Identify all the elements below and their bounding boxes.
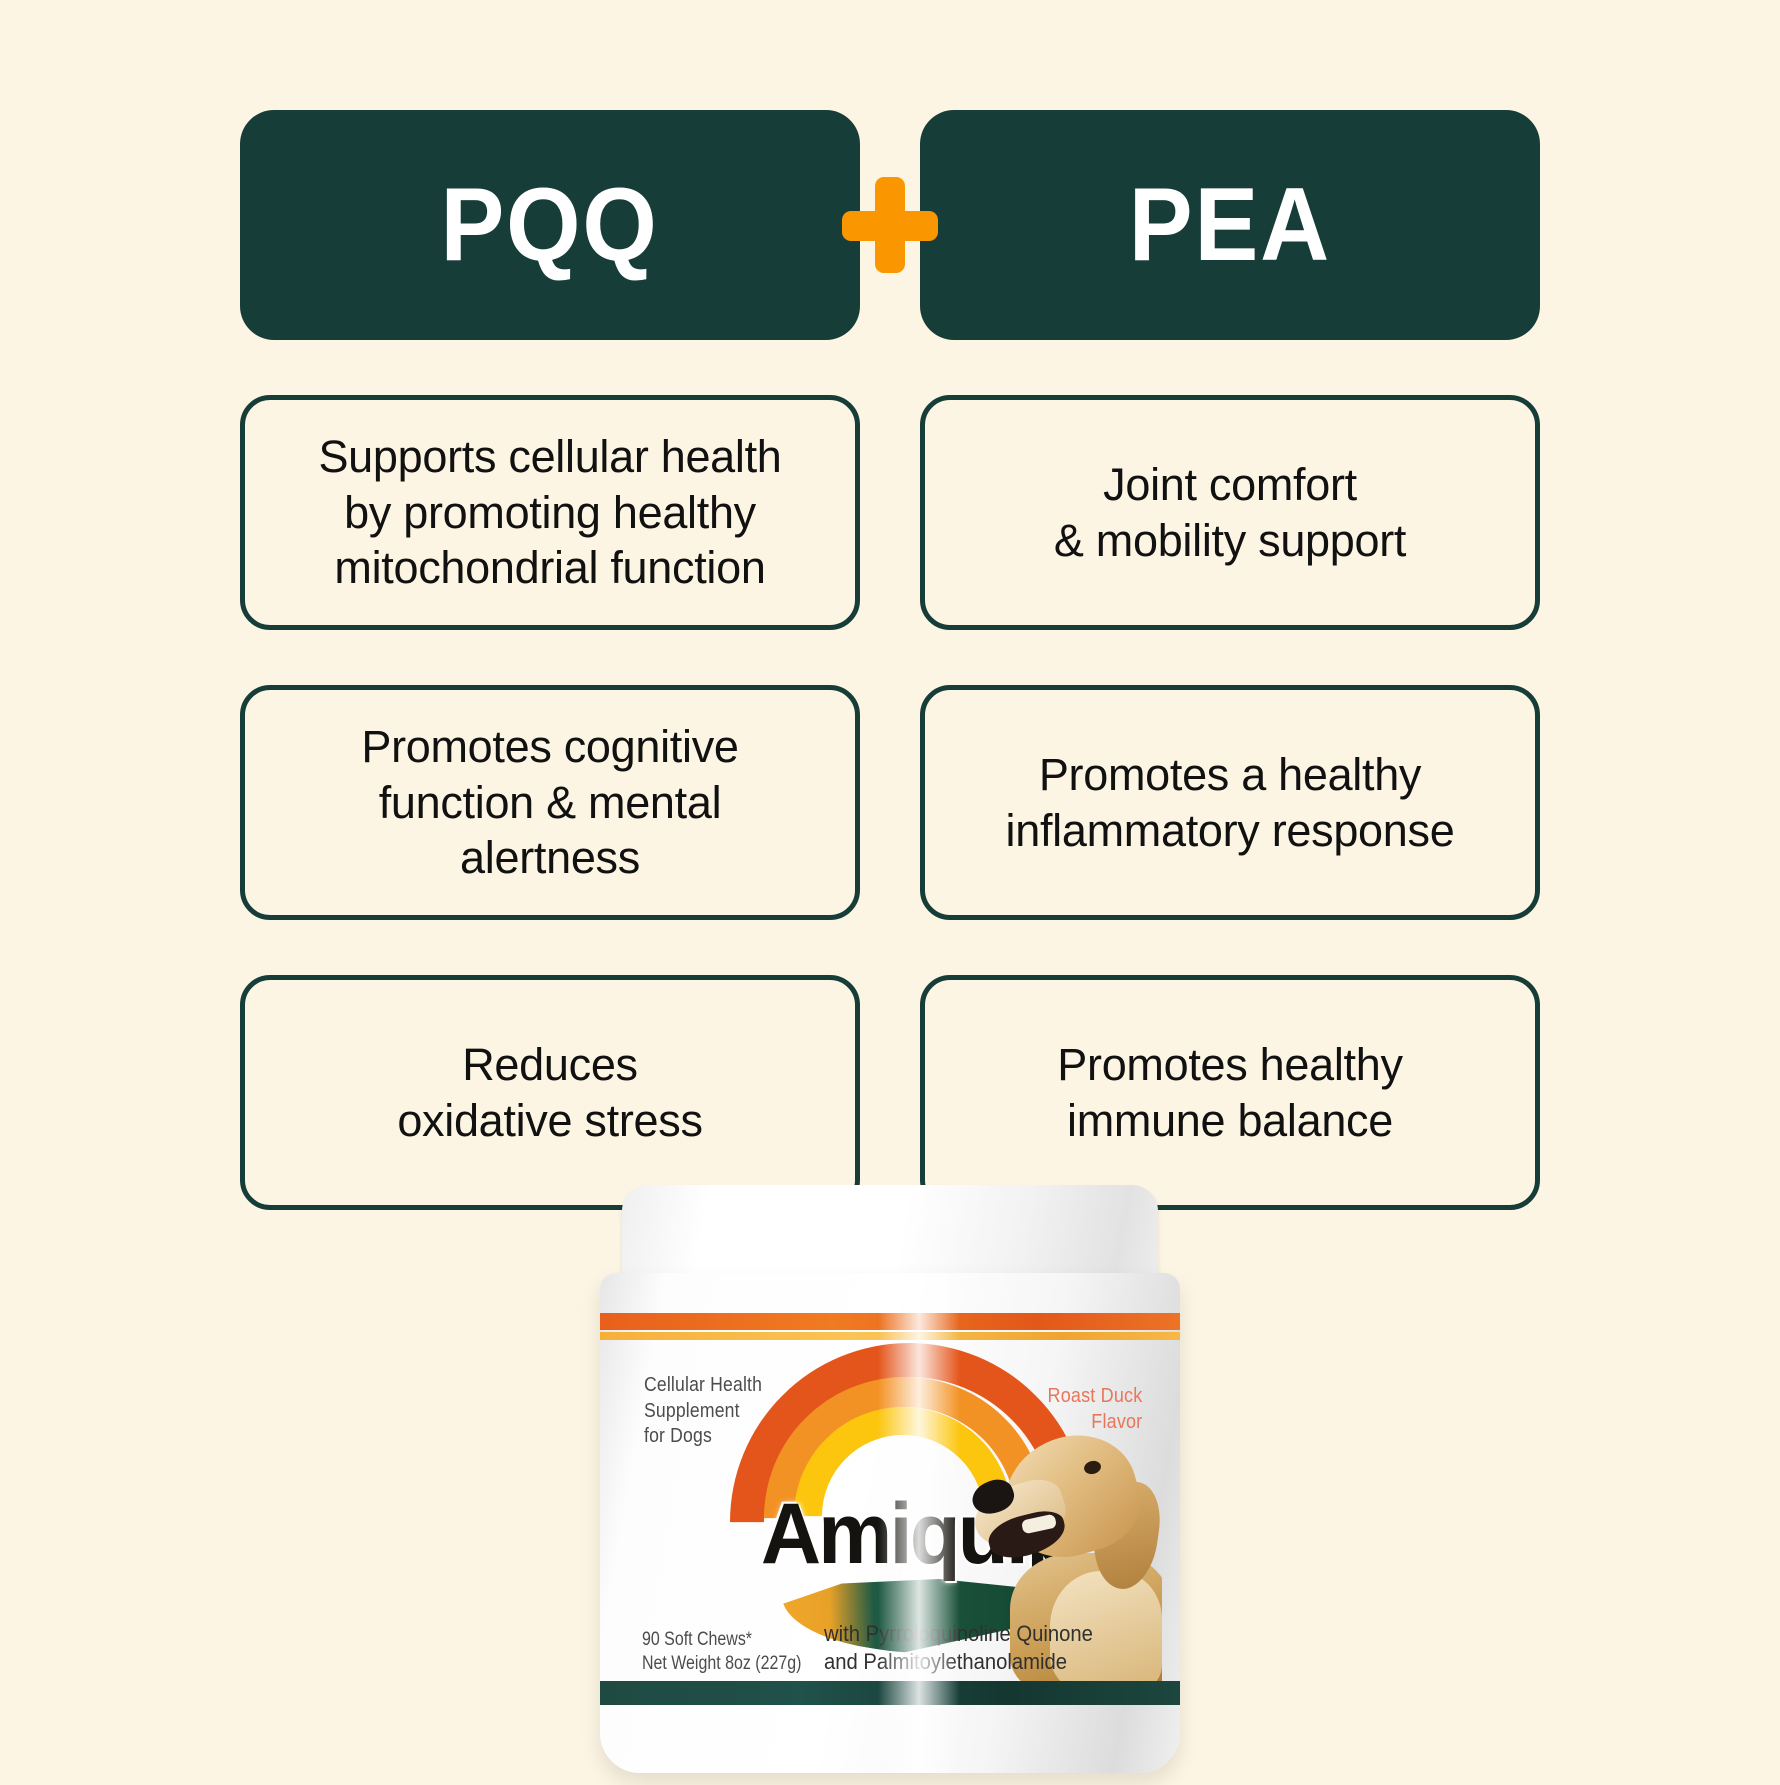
benefits-row-3: Reduces oxidative stress Promotes health… [240, 975, 1540, 1210]
product-jar: Cellular Health Supplement for Dogs Roas… [600, 1185, 1180, 1785]
product-count: 90 Soft Chews* Net Weight 8oz (227g) [642, 1628, 801, 1677]
jar-body: Cellular Health Supplement for Dogs Roas… [600, 1273, 1180, 1773]
benefit-text: Promotes healthy immune balance [1057, 1037, 1402, 1149]
label-stripe-green [600, 1681, 1180, 1705]
benefit-text: Joint comfort & mobility support [1054, 457, 1406, 569]
ingredient-header-row: PQQ PEA [240, 110, 1540, 340]
benefit-card-pqq-2: Promotes cognitive function & mental ale… [240, 685, 860, 920]
plus-icon-vertical-bar [875, 177, 905, 273]
label-stripe-yellow [600, 1332, 1180, 1340]
header-card-pqq: PQQ [240, 110, 860, 340]
benefit-text: Supports cellular health by promoting he… [318, 429, 781, 596]
infographic-canvas: PQQ PEA Supports cellular health by prom… [0, 0, 1780, 1780]
benefits-row-1: Supports cellular health by promoting he… [240, 395, 1540, 630]
label-stripe-orange [600, 1313, 1180, 1330]
jar-lid [622, 1185, 1158, 1285]
benefit-text: Reduces oxidative stress [397, 1037, 702, 1149]
benefit-text: Promotes a healthy inflammatory response [1006, 747, 1455, 859]
benefit-text: Promotes cognitive function & mental ale… [361, 719, 738, 886]
benefits-grid: Supports cellular health by promoting he… [240, 395, 1540, 1265]
benefit-card-pea-1: Joint comfort & mobility support [920, 395, 1540, 630]
benefit-card-pqq-3: Reduces oxidative stress [240, 975, 860, 1210]
benefit-card-pea-3: Promotes healthy immune balance [920, 975, 1540, 1210]
benefits-row-2: Promotes cognitive function & mental ale… [240, 685, 1540, 920]
header-card-pea: PEA [920, 110, 1540, 340]
header-label-pea: PEA [1129, 173, 1331, 277]
product-ingredients: with Pyrroloquinoline Quinone and Palmit… [824, 1620, 1093, 1677]
header-label-pqq: PQQ [441, 173, 659, 277]
benefit-card-pea-2: Promotes a healthy inflammatory response [920, 685, 1540, 920]
benefit-card-pqq-1: Supports cellular health by promoting he… [240, 395, 860, 630]
plus-icon [842, 177, 938, 273]
